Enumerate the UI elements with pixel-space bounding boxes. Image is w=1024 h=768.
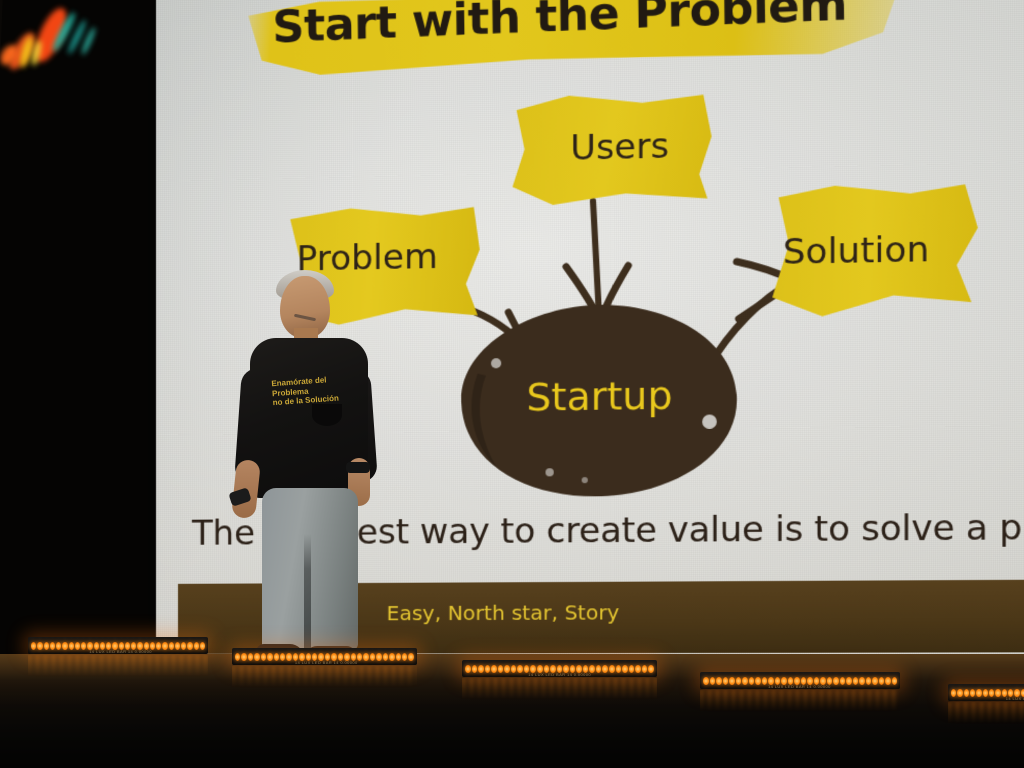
led-dot (37, 642, 42, 650)
led-dot (723, 677, 729, 685)
led-dot (408, 653, 413, 661)
led-dot (859, 677, 865, 685)
led-dot (989, 689, 994, 697)
wristwatch-icon (346, 462, 370, 473)
led-dot (616, 665, 622, 673)
led-dot (485, 665, 491, 673)
led-bar-model-label: 14 LUX LED BAR 14 0.00000 (295, 660, 358, 665)
led-dot (56, 642, 61, 650)
led-dot (241, 653, 246, 661)
led-dot (755, 677, 761, 685)
startup-blob-label: Startup (455, 372, 745, 420)
led-dot (703, 677, 709, 685)
led-dot (363, 653, 368, 661)
led-dot (396, 653, 401, 661)
led-dot (254, 653, 259, 661)
led-light-bar: 14 LUX LED BAR 14 0.00000 (948, 684, 1024, 701)
led-bar-model-label: 14 LUX LED BAR 14 0.00000 (1006, 696, 1024, 701)
led-dot (602, 665, 608, 673)
led-dot (248, 653, 253, 661)
led-dot (840, 677, 846, 685)
led-dot (75, 642, 80, 650)
led-dot (370, 653, 375, 661)
led-dot (200, 642, 205, 650)
led-dot (156, 642, 161, 650)
led-dot (976, 689, 981, 697)
led-dot (983, 689, 988, 697)
led-dot (383, 653, 388, 661)
led-dot (995, 689, 1000, 697)
led-dot (280, 653, 285, 661)
node-label-users: Users (570, 126, 669, 169)
led-light-bar: 14 LUX LED BAR 14 0.00000 (700, 672, 900, 689)
speaker-tshirt-collar (312, 404, 342, 426)
led-dot (833, 677, 839, 685)
led-dot (81, 642, 86, 650)
led-bar-model-label: 14 LUX LED BAR 14 0.00000 (528, 672, 591, 677)
led-dot (491, 665, 497, 673)
led-dot (478, 665, 484, 673)
led-dot (609, 665, 615, 673)
led-dot (642, 665, 648, 673)
led-dot (892, 677, 898, 685)
led-dot (635, 665, 641, 673)
led-dot (885, 677, 891, 685)
led-floor-reflection (28, 655, 208, 677)
led-dot (762, 677, 768, 685)
startup-blob: Startup (455, 296, 745, 503)
led-floor-reflection (232, 666, 417, 688)
led-dot (376, 653, 381, 661)
led-dot (866, 677, 872, 685)
led-dot (267, 653, 272, 661)
led-dot (648, 665, 654, 673)
led-dot (194, 642, 199, 650)
led-dot (846, 677, 852, 685)
led-dot (964, 689, 969, 697)
light-streaks (0, 0, 140, 110)
led-dot (517, 665, 523, 673)
node-label-solution: Solution (783, 229, 929, 273)
led-dot (465, 665, 471, 673)
led-floor-reflection (700, 690, 900, 712)
led-floor-reflection (462, 678, 657, 700)
led-light-bar: 14 LUX LED BAR 14 0.00000 (232, 648, 417, 665)
led-dot (181, 642, 186, 650)
led-dot (50, 642, 55, 650)
led-dot (235, 653, 240, 661)
led-dot (187, 642, 192, 650)
led-dot (957, 689, 962, 697)
led-floor-reflection (948, 702, 1024, 724)
speaker-person: Enamórate del Problema no de la Solución (228, 272, 388, 682)
led-dot (596, 665, 602, 673)
led-dot (31, 642, 36, 650)
led-dot (853, 677, 859, 685)
led-dot (472, 665, 478, 673)
led-dot (629, 665, 635, 673)
led-dot (402, 653, 407, 661)
led-dot (504, 665, 510, 673)
led-dot (274, 653, 279, 661)
led-dot (389, 653, 394, 661)
led-dot (749, 677, 755, 685)
led-bar-model-label: 14 LUX LED BAR 14 0.00000 (89, 649, 152, 654)
led-dot (44, 642, 49, 650)
led-dot (872, 677, 878, 685)
led-dot (729, 677, 735, 685)
led-dot (879, 677, 885, 685)
led-dot (175, 642, 180, 650)
led-dot (736, 677, 742, 685)
led-dot (710, 677, 716, 685)
led-dot (62, 642, 67, 650)
led-dot (511, 665, 517, 673)
led-dot (951, 689, 956, 697)
stage-photo: Start with the Problem Users Problem Sol… (0, 0, 1024, 768)
led-bar-model-label: 14 LUX LED BAR 14 0.00000 (768, 684, 831, 689)
led-dot (261, 653, 266, 661)
led-dot (970, 689, 975, 697)
led-dot (69, 642, 74, 650)
led-dot (622, 665, 628, 673)
led-dot (169, 642, 174, 650)
led-dot (286, 653, 291, 661)
led-dot (742, 677, 748, 685)
led-dot (498, 665, 504, 673)
led-dot (716, 677, 722, 685)
speaker-leg-separation (304, 534, 311, 650)
led-light-bar: 14 LUX LED BAR 14 0.00000 (28, 637, 208, 654)
led-light-bar: 14 LUX LED BAR 14 0.00000 (462, 660, 657, 677)
led-dot (162, 642, 167, 650)
